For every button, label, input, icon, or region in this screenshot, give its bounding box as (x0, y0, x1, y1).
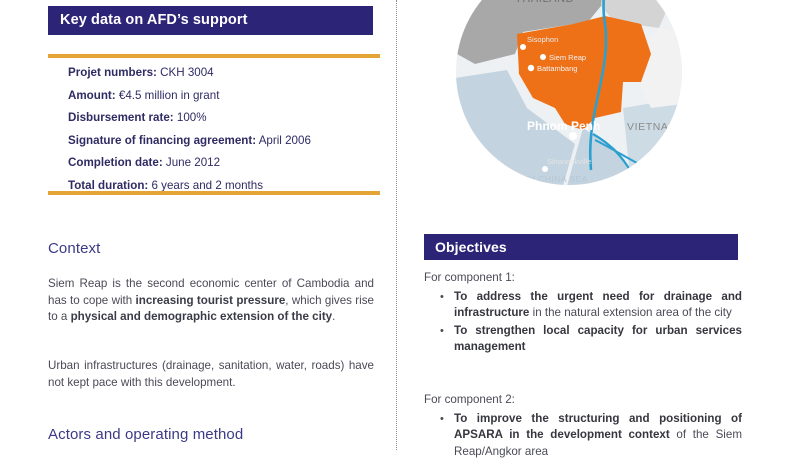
map-marker-sisophon (520, 44, 526, 50)
map-label-battambang: Battambang (537, 64, 577, 73)
key-data-label: Completion date: (68, 156, 163, 169)
map-marker-battambang (528, 65, 534, 71)
orange-rule-bottom (48, 191, 380, 195)
objective-bold: To strengthen local capacity for urban s… (454, 324, 742, 353)
key-data-label: Amount: (68, 89, 116, 102)
map-label-south-china-sea: SOUTH CHINA SEA (503, 174, 588, 184)
key-data-item: Total duration: 6 years and 2 months (68, 179, 388, 192)
key-data-value: CKH 3004 (157, 66, 214, 79)
key-data-value: April 2006 (256, 134, 311, 147)
context-text-e: . (332, 310, 335, 323)
objectives-header: Objectives (424, 234, 738, 260)
orange-rule-top (48, 54, 380, 58)
map-marker-sihanoukville (542, 166, 548, 172)
map-label-siem-reap: Siem Reap (549, 53, 586, 62)
key-data-label: Total duration: (68, 179, 148, 192)
component-1-label: For component 1: (424, 270, 742, 285)
map-label-thailand: THAILAND (515, 0, 574, 5)
map-marker-phnom-penh (569, 132, 577, 140)
fact-sheet-page: Key data on AFD’s support Projet numbers… (0, 0, 792, 450)
component-1-block: For component 1: •To address the urgent … (424, 270, 742, 357)
context-paragraph-2: Urban infrastructures (drainage, sanitat… (48, 358, 374, 391)
key-data-value: 6 years and 2 months (148, 179, 263, 192)
map-graphic: THAILAND LAOS VIETNAM SOUTH CHINA SEA Si… (455, 0, 683, 186)
key-data-header: Key data on AFD’s support (48, 6, 373, 35)
component-2-label: For component 2: (424, 392, 742, 407)
column-divider (396, 0, 397, 450)
key-data-label: Disbursement rate: (68, 111, 174, 124)
left-column: Key data on AFD’s support Projet numbers… (48, 0, 380, 450)
component-2-block: For component 2: •To improve the structu… (424, 392, 742, 461)
context-text-bold-1: increasing tourist pressure (136, 294, 286, 307)
key-data-value: €4.5 million in grant (116, 89, 220, 102)
map-label-sisophon: Sisophon (527, 35, 558, 44)
map-marker-siem-reap (540, 54, 546, 60)
key-data-item: Projet numbers: CKH 3004 (68, 66, 388, 79)
context-heading: Context (48, 240, 100, 257)
map-label-phnom-penh: Phnom Penh (527, 119, 600, 133)
bullet-icon: • (440, 289, 444, 305)
context-text-bold-2: physical and demographic extension of th… (71, 310, 333, 323)
component-2-list: •To improve the structuring and position… (424, 411, 742, 460)
objective-item: •To strengthen local capacity for urban … (424, 323, 742, 356)
map-label-sihanoukville: Sihanoukville (547, 157, 591, 166)
cambodia-map: THAILAND LAOS VIETNAM SOUTH CHINA SEA Si… (455, 0, 683, 186)
objective-rest: in the natural extension area of the cit… (529, 306, 731, 319)
component-1-list: •To address the urgent need for drainage… (424, 289, 742, 356)
bullet-icon: • (440, 323, 444, 339)
actors-heading: Actors and operating method (48, 426, 243, 443)
key-data-item: Signature of financing agreement: April … (68, 134, 388, 147)
key-data-label: Signature of financing agreement: (68, 134, 256, 147)
objective-item: •To address the urgent need for drainage… (424, 289, 742, 322)
key-data-item: Amount: €4.5 million in grant (68, 89, 388, 102)
map-sea-water-3 (623, 98, 683, 186)
map-label-vietnam: VIETNAM (627, 121, 678, 133)
key-data-list: Projet numbers: CKH 3004 Amount: €4.5 mi… (68, 66, 388, 201)
key-data-item: Disbursement rate: 100% (68, 111, 388, 124)
bullet-icon: • (440, 411, 444, 427)
key-data-item: Completion date: June 2012 (68, 156, 388, 169)
key-data-value: June 2012 (163, 156, 220, 169)
key-data-value: 100% (174, 111, 207, 124)
objective-item: •To improve the structuring and position… (424, 411, 742, 460)
key-data-label: Projet numbers: (68, 66, 157, 79)
map-label-laos: LAOS (613, 0, 645, 1)
context-paragraph-1: Siem Reap is the second economic center … (48, 276, 374, 326)
